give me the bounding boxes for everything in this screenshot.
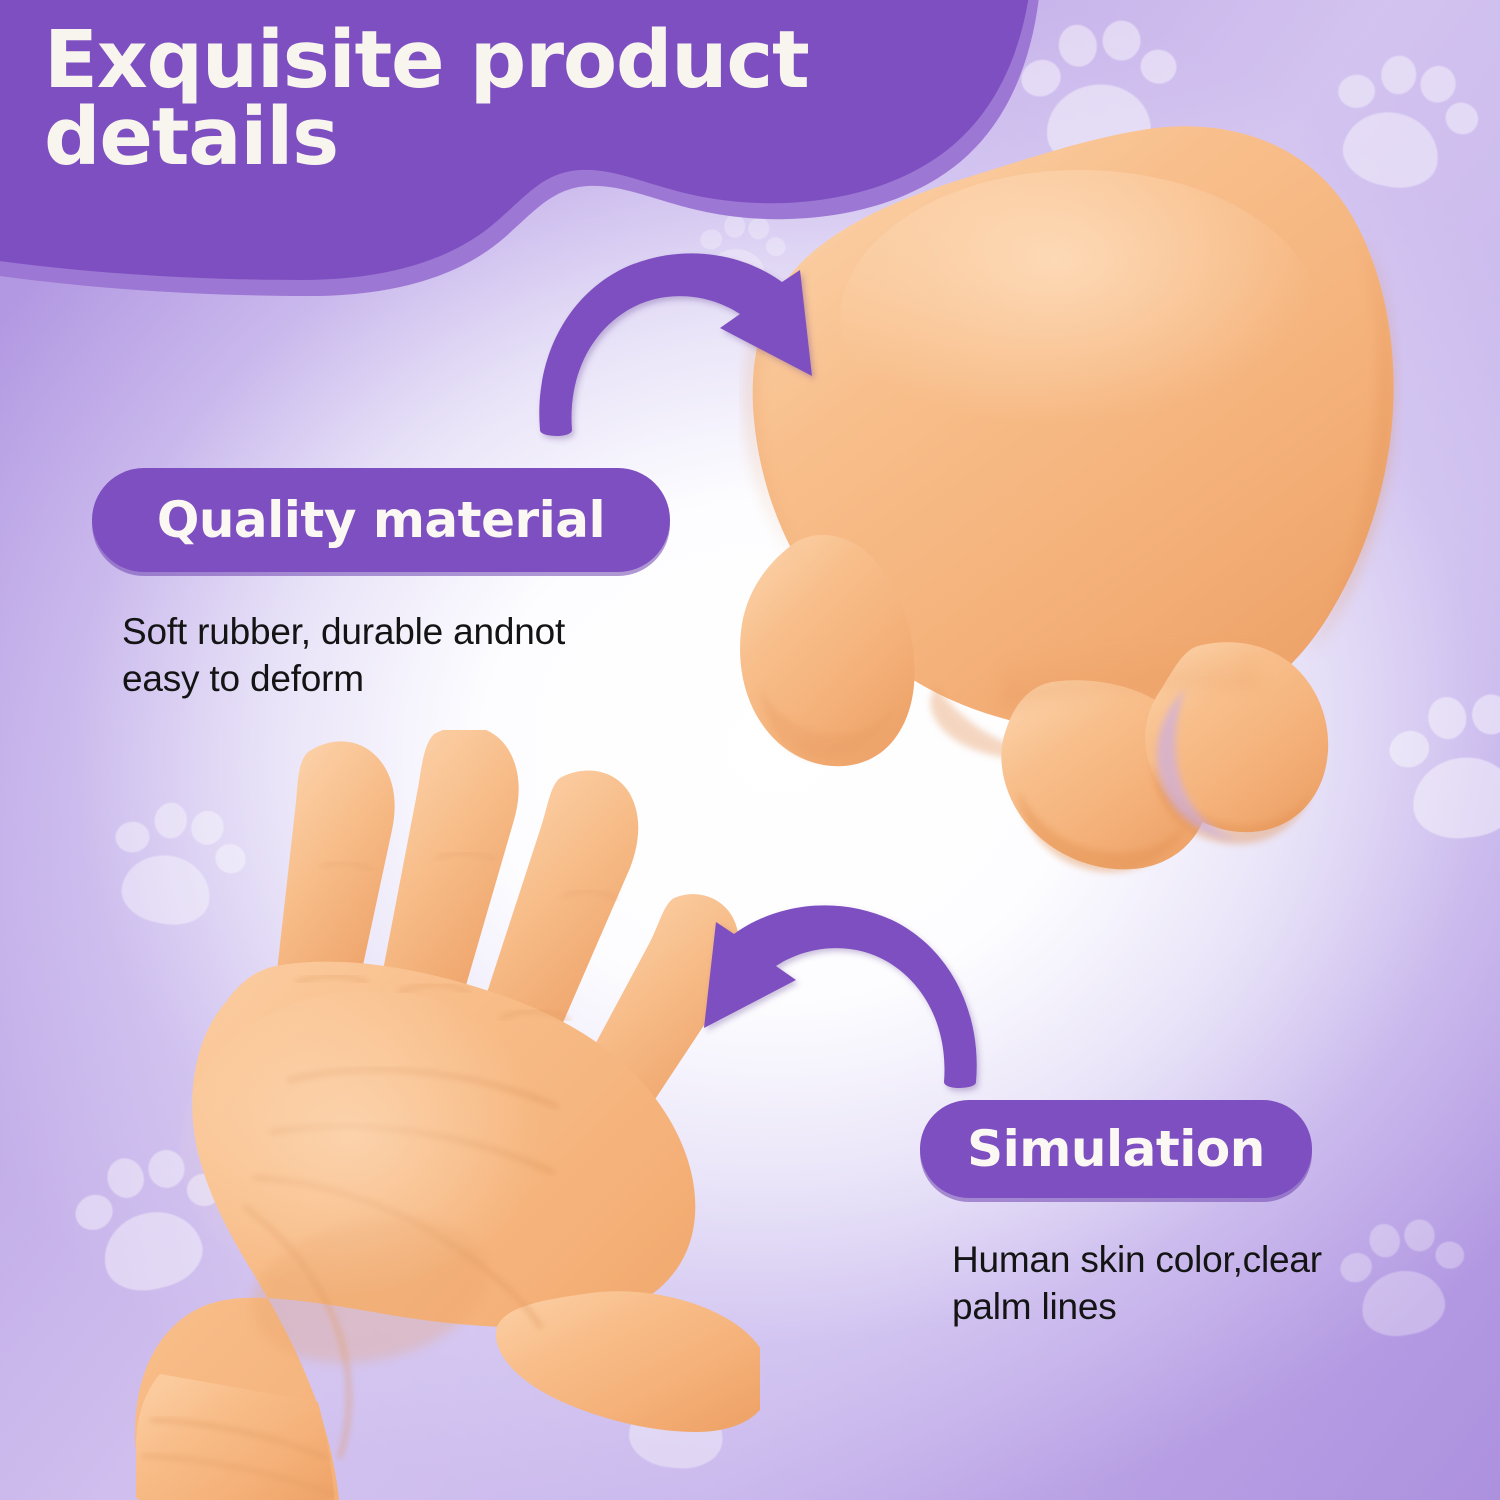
paw-toe: [1440, 97, 1484, 141]
rubber-hand-fist-image: [700, 90, 1420, 900]
paw-pad: [1409, 752, 1500, 842]
paw-toe: [622, 573, 647, 597]
rubber-hand-open-palm-image: [40, 730, 760, 1500]
paw-toe: [1415, 61, 1460, 108]
badge-simulation[interactable]: Simulation: [920, 1100, 1312, 1198]
page-title: Exquisite product details: [44, 22, 944, 177]
paw-toe: [1471, 694, 1500, 735]
paw-toe: [665, 558, 685, 579]
caption-quality-material: Soft rubber, durable andnot easy to defo…: [122, 608, 762, 703]
curved-arrow-left-down-icon: [662, 898, 992, 1130]
paw-toe: [1103, 21, 1141, 61]
caption-simulation: Human skin color,clear palm lines: [952, 1236, 1500, 1331]
paw-toe: [1138, 47, 1179, 87]
badge-quality-material[interactable]: Quality material: [92, 468, 670, 572]
infographic-canvas: Exquisite product details: [0, 0, 1500, 1500]
curved-arrow-right-down-icon: [524, 248, 854, 478]
paw-toe: [1425, 694, 1470, 742]
